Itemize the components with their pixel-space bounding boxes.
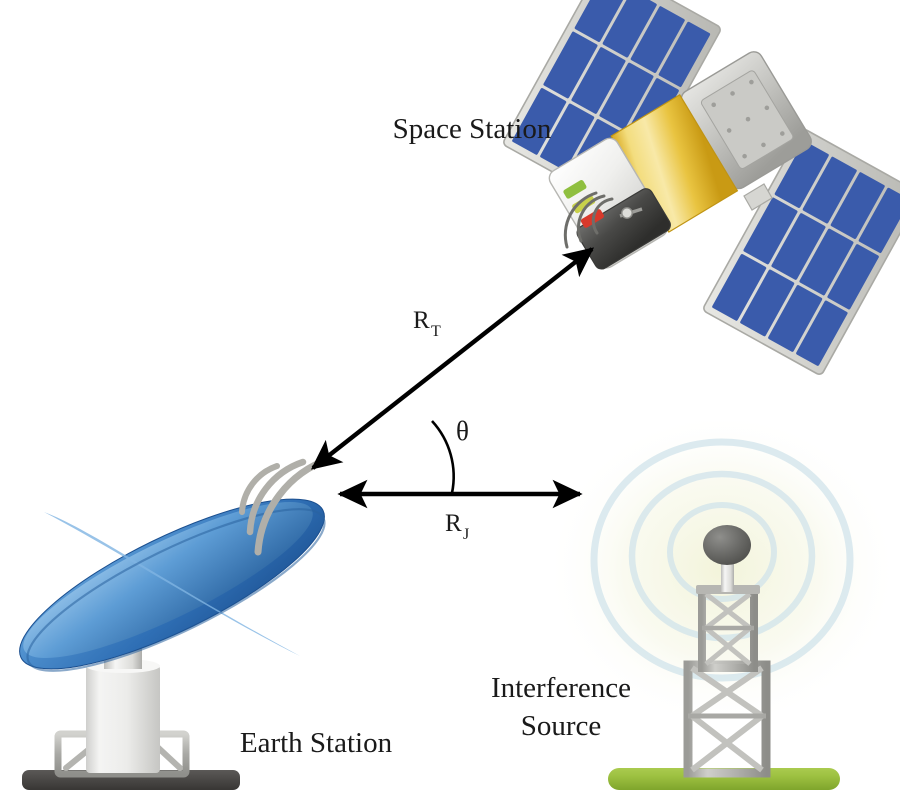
space-station-satellite xyxy=(502,0,900,376)
label-r-j: R J xyxy=(445,510,469,543)
label-r-t-subscript: T xyxy=(431,323,441,340)
dish-pedestal xyxy=(86,665,160,773)
angle-theta-label: θ xyxy=(456,416,469,446)
earth-station-label: Earth Station xyxy=(240,727,393,759)
satellite-interference-diagram: Space Station Earth Station Interference… xyxy=(0,0,900,800)
label-r-j-subscript: J xyxy=(463,526,469,543)
tower-antenna-ball xyxy=(703,525,751,565)
angle-arc xyxy=(432,421,454,493)
arrow-r-t xyxy=(313,249,592,468)
label-r-t-base: R xyxy=(413,307,430,334)
space-station-label: Space Station xyxy=(393,113,552,145)
label-r-j-base: R xyxy=(445,510,462,537)
dish-reflector xyxy=(0,468,343,700)
interference-source-label-line1: Interference xyxy=(491,672,631,704)
diagram-root: Space Station Earth Station Interference… xyxy=(0,0,900,800)
label-r-t: R T xyxy=(413,307,441,340)
interference-source-label-line2: Source xyxy=(521,710,602,742)
